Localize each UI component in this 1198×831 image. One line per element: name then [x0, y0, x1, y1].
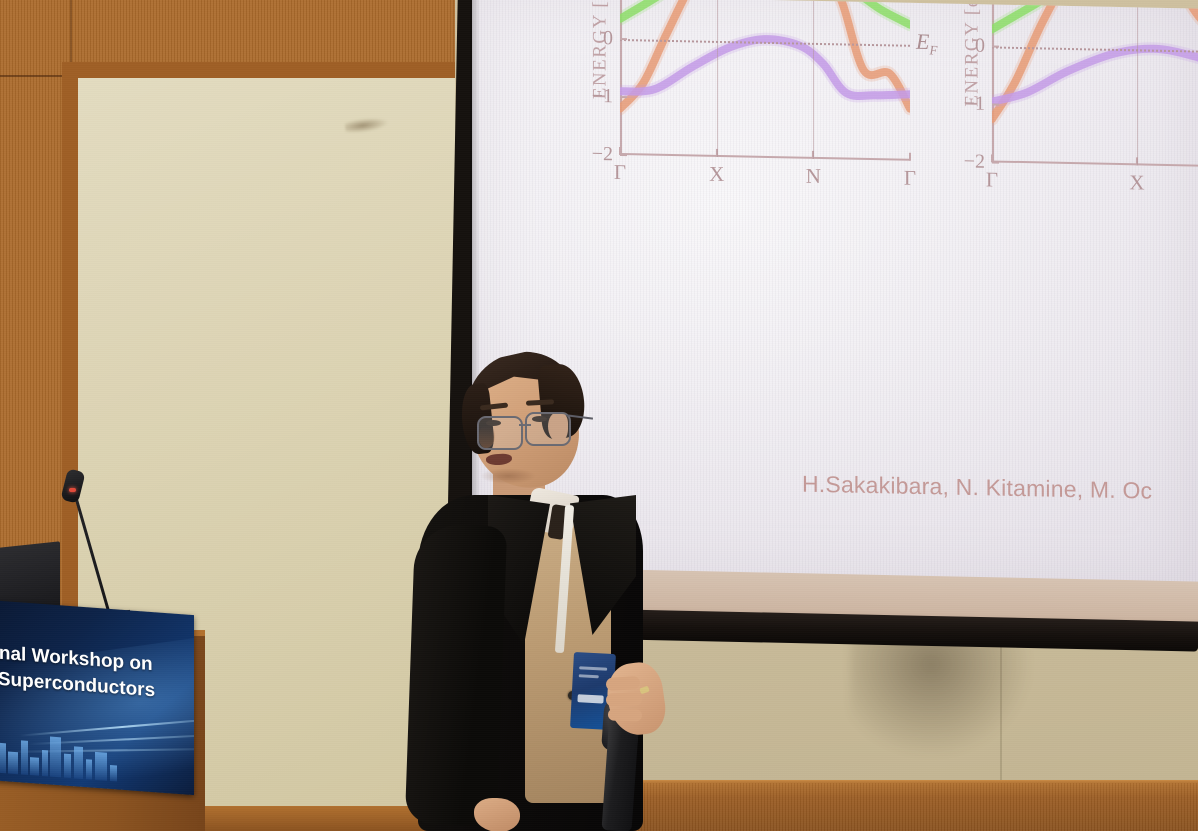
speaker-hand-lower — [474, 798, 520, 831]
speaker-finger-3 — [608, 708, 642, 721]
plot-gridline — [717, 0, 718, 157]
skyline-building — [21, 740, 28, 775]
skyline-building — [50, 737, 61, 778]
speaker-finger-1 — [606, 676, 641, 691]
skyline-building — [8, 751, 18, 774]
skyline-building — [110, 765, 117, 782]
plot-right-y-tick: −1 — [964, 92, 985, 115]
y-tick-mark — [620, 96, 627, 98]
plot-left-x-tick: Γ — [614, 160, 626, 185]
plot-right-x-tick: Γ — [986, 167, 998, 192]
y-tick-mark — [620, 38, 627, 40]
badge-text-line-2 — [579, 674, 599, 678]
y-tick-mark — [992, 46, 999, 48]
y-tick-mark — [620, 154, 627, 156]
skyline-building — [74, 746, 83, 779]
plot-gridline — [813, 0, 814, 159]
badge-logo — [577, 694, 603, 703]
speaker-finger-2 — [606, 692, 642, 706]
wall-seam — [1000, 640, 1002, 790]
plot-right-y-tick: −2 — [964, 150, 985, 173]
plot-left-curves — [620, 0, 910, 161]
plot-right-y-tick: 0 — [975, 35, 985, 58]
plot-gridline — [1137, 0, 1138, 165]
y-tick-mark — [992, 104, 999, 106]
speaker-chin-shadow — [480, 468, 536, 484]
plot-left-x-tick: Γ — [904, 166, 916, 191]
x-tick-mark — [991, 154, 993, 162]
x-tick-mark — [909, 153, 911, 161]
plot-left-y-tick: 0 — [603, 27, 613, 50]
podium-banner: ional Workshop on e Superconductors — [0, 600, 194, 795]
gooseneck-mic-head — [60, 468, 85, 503]
glasses-bridge — [519, 424, 531, 426]
plot-left-y-tick: −1 — [592, 85, 613, 108]
band-curve-green-band — [620, 0, 910, 25]
badge-text-line-1 — [579, 666, 607, 670]
y-tick-mark — [992, 161, 999, 163]
x-tick-mark — [619, 147, 621, 155]
plot-left-x-tick: X — [709, 162, 724, 187]
plot-left-fermi-label: EF — [916, 29, 937, 59]
speaker-torso — [410, 495, 645, 831]
plot-left-x-tick: N — [806, 164, 821, 189]
banner-skyline-graphic — [0, 710, 158, 784]
skyline-building — [30, 757, 39, 776]
plot-right-curves — [992, 0, 1198, 168]
skyline-building — [95, 752, 107, 781]
skyline-building — [0, 743, 6, 773]
gooseneck-mic-led-icon — [69, 488, 76, 492]
speaker — [400, 350, 680, 831]
skyline-building — [86, 759, 92, 779]
skyline-building — [64, 754, 71, 779]
speaker-jacket-sleeve — [405, 523, 507, 826]
glasses-lens-right — [525, 412, 571, 446]
presentation-photo: ENERGY [e EF 10−1−2ΓXNΓ ENERGY [e 10−1−2… — [0, 0, 1198, 831]
skyline-building — [42, 750, 48, 776]
plot-left-y-tick: −2 — [592, 143, 613, 166]
band-structure-plot-left: ENERGY [e EF 10−1−2ΓXNΓ — [620, 0, 910, 161]
plot-right-x-tick: X — [1129, 170, 1144, 195]
band-structure-plot-right: ENERGY [e 10−1−2ΓXN — [992, 0, 1198, 168]
slide-author-line: H.Sakakibara, N. Kitamine, M. Oc — [802, 471, 1152, 505]
